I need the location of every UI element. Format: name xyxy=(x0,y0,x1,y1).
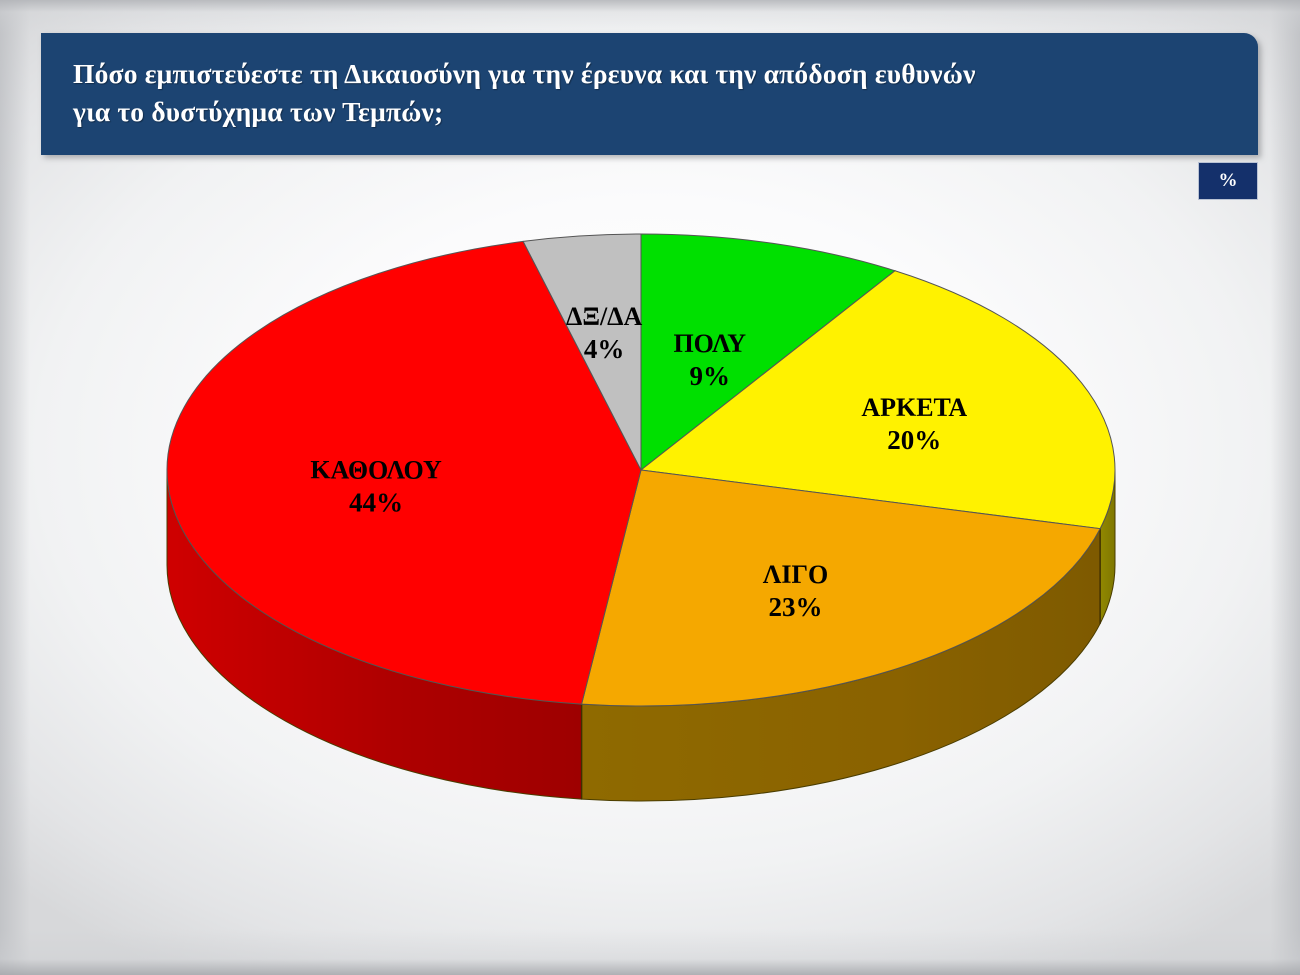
pie-chart-svg: ΠΟΛΥ9%ΑΡΚΕΤΑ20%ΛΙΓΟ23%ΚΑΘΟΛΟΥ44%ΔΞ/ΔΑ4% xyxy=(0,180,1300,840)
slide-root: Πόσο εμπιστεύεστε τη Δικαιοσύνη για την … xyxy=(0,0,1300,975)
header-bar: Πόσο εμπιστεύεστε τη Δικαιοσύνη για την … xyxy=(41,33,1258,155)
svg-text:4%: 4% xyxy=(584,334,625,364)
footer: NEWS alco The pulse of society xyxy=(0,855,1300,975)
svg-text:ΚΑΘΟΛΟΥ: ΚΑΘΟΛΟΥ xyxy=(310,455,442,484)
svg-text:44%: 44% xyxy=(349,487,403,517)
svg-text:ΔΞ/ΔΑ: ΔΞ/ΔΑ xyxy=(566,302,642,331)
svg-text:ΛΙΓΟ: ΛΙΓΟ xyxy=(763,560,829,589)
percent-unit-badge: % xyxy=(1198,162,1258,200)
svg-text:ΑΡΚΕΤΑ: ΑΡΚΕΤΑ xyxy=(861,393,967,422)
pie-chart: ΠΟΛΥ9%ΑΡΚΕΤΑ20%ΛΙΓΟ23%ΚΑΘΟΛΟΥ44%ΔΞ/ΔΑ4% xyxy=(0,180,1300,840)
svg-text:9%: 9% xyxy=(690,361,731,391)
svg-text:20%: 20% xyxy=(887,425,941,455)
page-title: Πόσο εμπιστεύεστε τη Δικαιοσύνη για την … xyxy=(73,55,1203,131)
svg-text:23%: 23% xyxy=(769,592,823,622)
svg-text:ΠΟΛΥ: ΠΟΛΥ xyxy=(673,329,746,358)
